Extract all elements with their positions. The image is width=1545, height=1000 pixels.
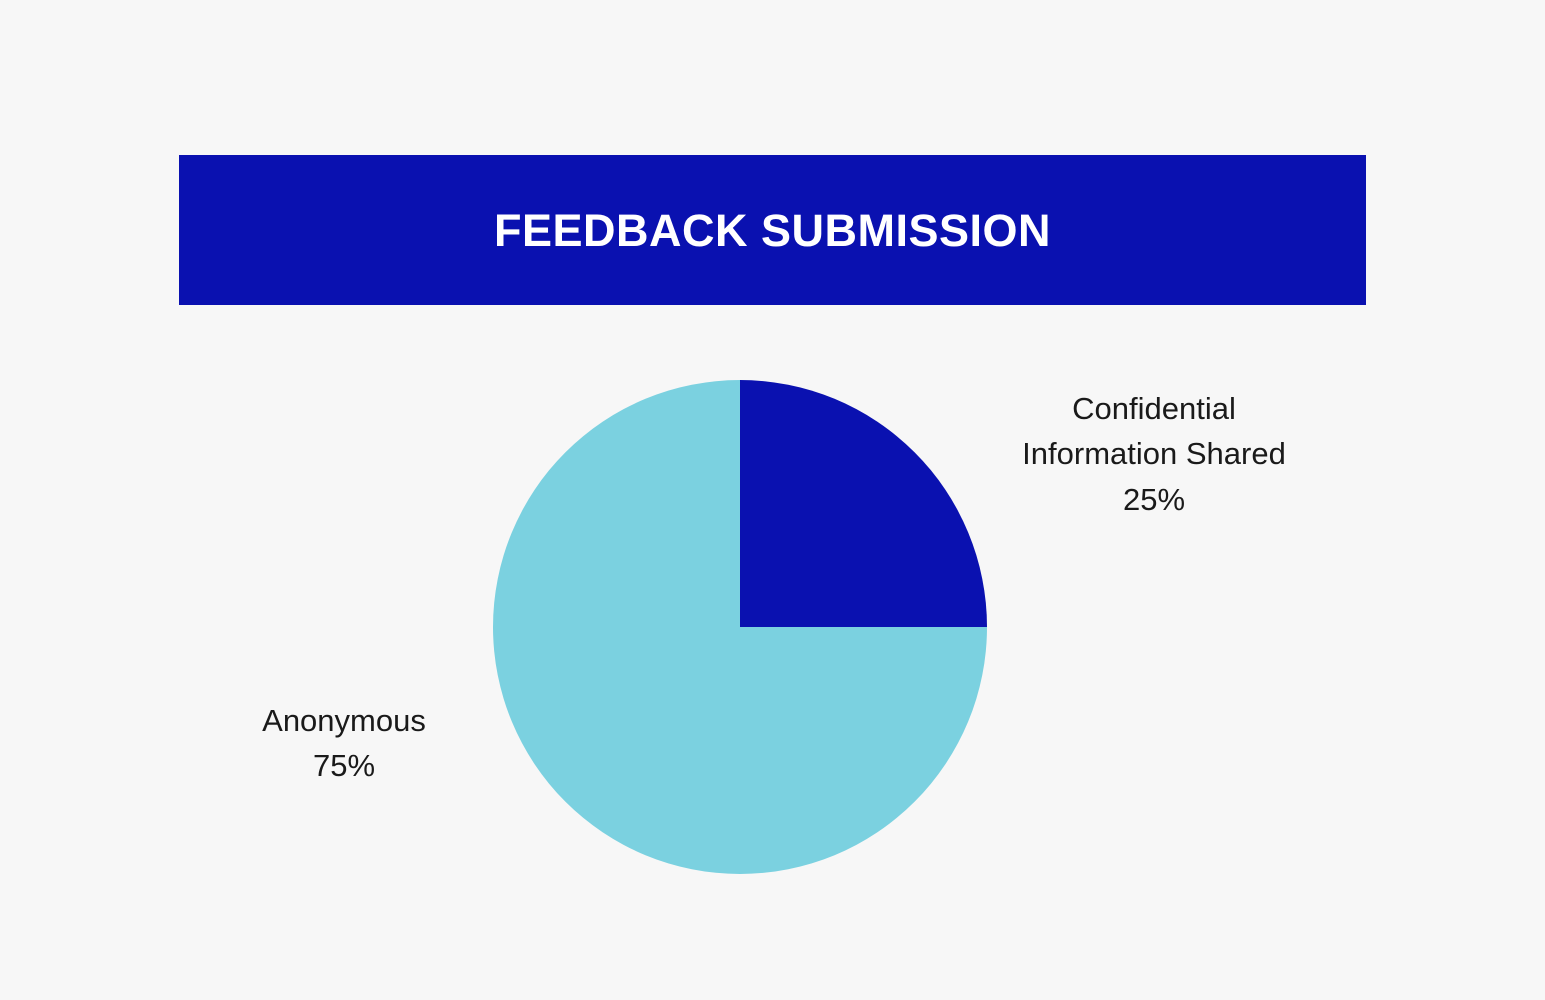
chart-canvas: FEEDBACK SUBMISSION Confidential Informa… [0,0,1545,1000]
title-banner: FEEDBACK SUBMISSION [179,155,1366,305]
pie-label-anonymous: Anonymous 75% [184,698,504,789]
pie-label-value: 25% [934,477,1374,522]
pie-label-confidential-information-shared: Confidential Information Shared 25% [934,386,1374,522]
pie-label-line-2: Information Shared [934,431,1374,476]
pie-label-line-1: Anonymous [184,698,504,743]
pie-label-value: 75% [184,743,504,788]
pie-slice-group [493,380,987,874]
pie-chart [493,380,987,874]
pie-chart-svg [493,380,987,874]
page-title: FEEDBACK SUBMISSION [494,208,1051,253]
pie-label-line-1: Confidential [934,386,1374,431]
